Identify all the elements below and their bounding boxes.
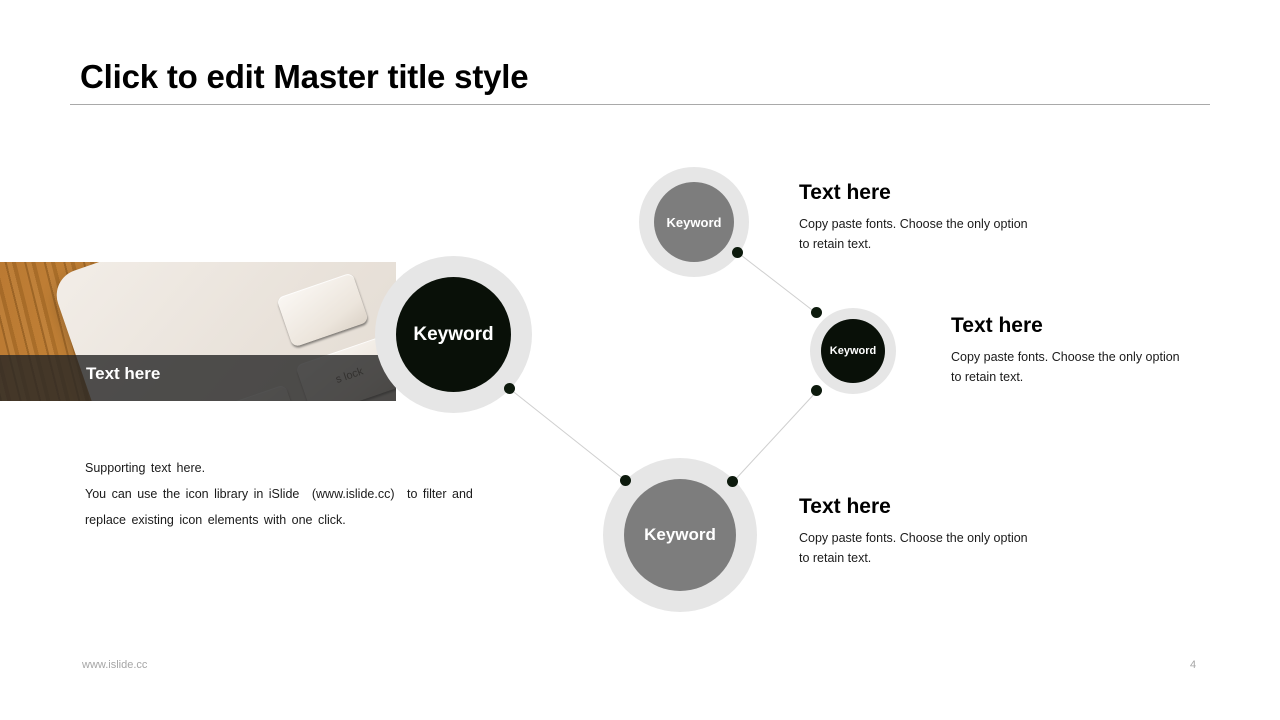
node-top-label: Keyword bbox=[667, 215, 722, 230]
text-block-mid-heading: Text here bbox=[951, 314, 1186, 337]
node-mid-inner: Keyword bbox=[821, 319, 885, 383]
node-top-keyword[interactable]: Keyword bbox=[639, 167, 749, 277]
connector-dot-mid-top bbox=[811, 307, 822, 318]
node-top-inner: Keyword bbox=[654, 182, 734, 262]
keyboard-photo[interactable]: fn shift s lock Q A W bbox=[0, 262, 396, 401]
connector-dot-mid-bottom bbox=[811, 385, 822, 396]
node-main-label: Keyword bbox=[413, 324, 493, 346]
page-title[interactable]: Click to edit Master title style bbox=[80, 58, 528, 96]
supporting-line-3: replace existing icon elements with one … bbox=[85, 507, 525, 533]
connector-bottom-to-mid bbox=[733, 391, 817, 482]
node-main-inner: Keyword bbox=[396, 277, 511, 392]
connector-dot-top bbox=[732, 247, 743, 258]
connector-main-to-bottom bbox=[510, 389, 626, 481]
supporting-text[interactable]: Supporting text here. You can use the ic… bbox=[85, 455, 525, 533]
supporting-line-1: Supporting text here. bbox=[85, 455, 525, 481]
photo-caption-text: Text here bbox=[86, 364, 160, 384]
node-bottom-inner: Keyword bbox=[624, 479, 736, 591]
text-block-bottom-body: Copy paste fonts. Choose the only option… bbox=[799, 528, 1034, 568]
text-block-bottom[interactable]: Text here Copy paste fonts. Choose the o… bbox=[799, 495, 1034, 568]
text-block-top-heading: Text here bbox=[799, 181, 1034, 204]
connector-dot-bottom-left bbox=[620, 475, 631, 486]
text-block-mid-body: Copy paste fonts. Choose the only option… bbox=[951, 347, 1186, 387]
photo-caption-band bbox=[0, 355, 396, 401]
text-block-top[interactable]: Text here Copy paste fonts. Choose the o… bbox=[799, 181, 1034, 254]
title-divider bbox=[70, 104, 1210, 105]
text-block-mid[interactable]: Text here Copy paste fonts. Choose the o… bbox=[951, 314, 1186, 387]
footer-url[interactable]: www.islide.cc bbox=[82, 659, 147, 671]
connector-dot-main bbox=[504, 383, 515, 394]
text-block-bottom-heading: Text here bbox=[799, 495, 1034, 518]
node-bottom-label: Keyword bbox=[644, 525, 716, 545]
node-mid-label: Keyword bbox=[830, 345, 876, 357]
connector-dot-bottom-right bbox=[727, 476, 738, 487]
key-blank-2 bbox=[276, 272, 369, 347]
text-block-top-body: Copy paste fonts. Choose the only option… bbox=[799, 214, 1034, 254]
page-number: 4 bbox=[1190, 659, 1196, 671]
node-mid-keyword[interactable]: Keyword bbox=[810, 308, 896, 394]
supporting-line-2: You can use the icon library in iSlide (… bbox=[85, 481, 525, 507]
connector-top-to-mid bbox=[737, 252, 816, 313]
